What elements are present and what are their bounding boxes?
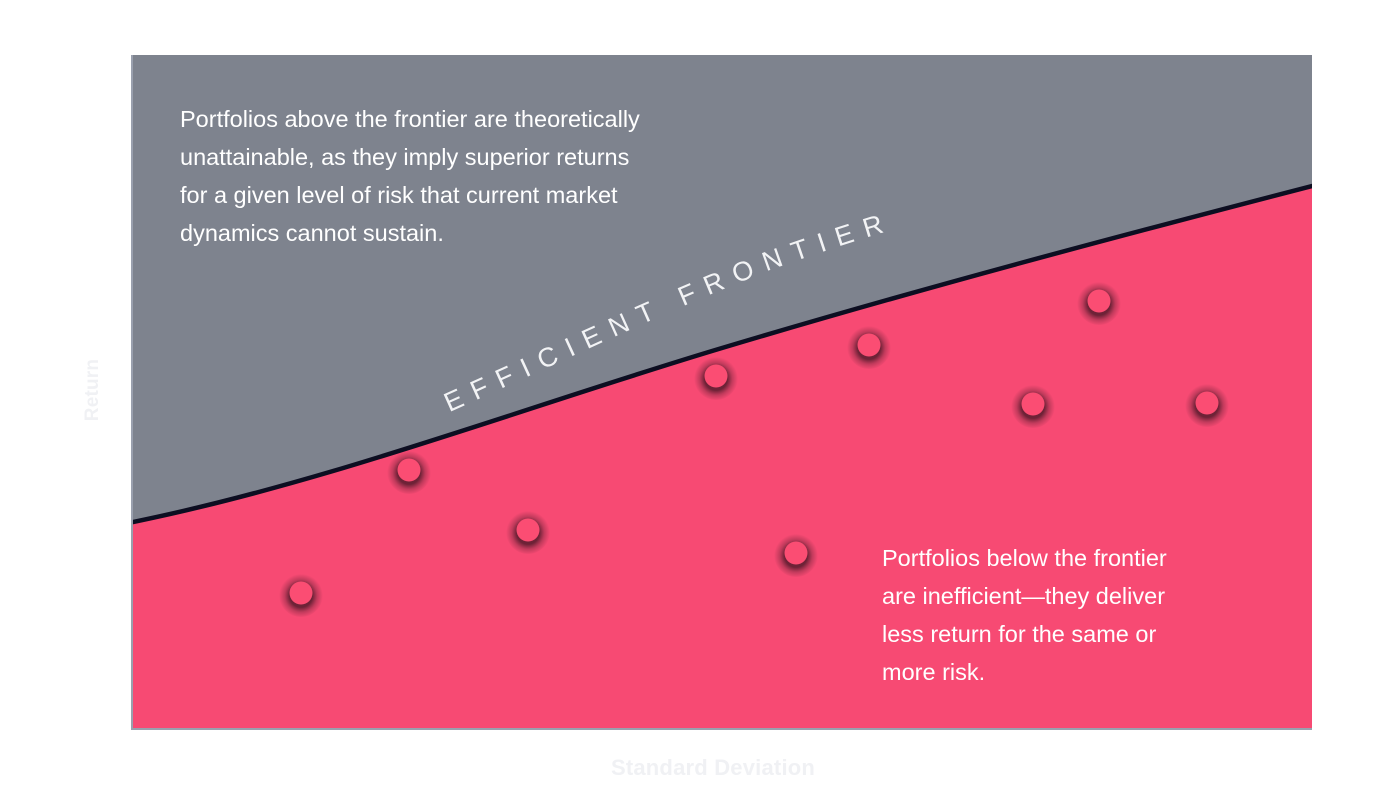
data-point[interactable]: [694, 356, 738, 400]
data-point[interactable]: [387, 450, 431, 494]
data-point[interactable]: [1011, 384, 1055, 428]
plot-area: EFFICIENT FRONTIER: [131, 55, 1312, 730]
data-point[interactable]: [847, 325, 891, 369]
x-axis-title: Standard Deviation: [611, 755, 815, 781]
annotation-below-frontier: Portfolios below the frontier are ineffi…: [882, 539, 1282, 691]
y-axis-title: Return: [82, 359, 104, 421]
data-point[interactable]: [1077, 281, 1121, 325]
annotation-above-frontier: Portfolios above the frontier are theore…: [180, 100, 820, 252]
chart-figure: Return Standard Deviation: [0, 0, 1380, 800]
data-point[interactable]: [279, 573, 323, 617]
data-point[interactable]: [774, 533, 818, 577]
data-point[interactable]: [506, 510, 550, 554]
data-point[interactable]: [1185, 383, 1229, 427]
